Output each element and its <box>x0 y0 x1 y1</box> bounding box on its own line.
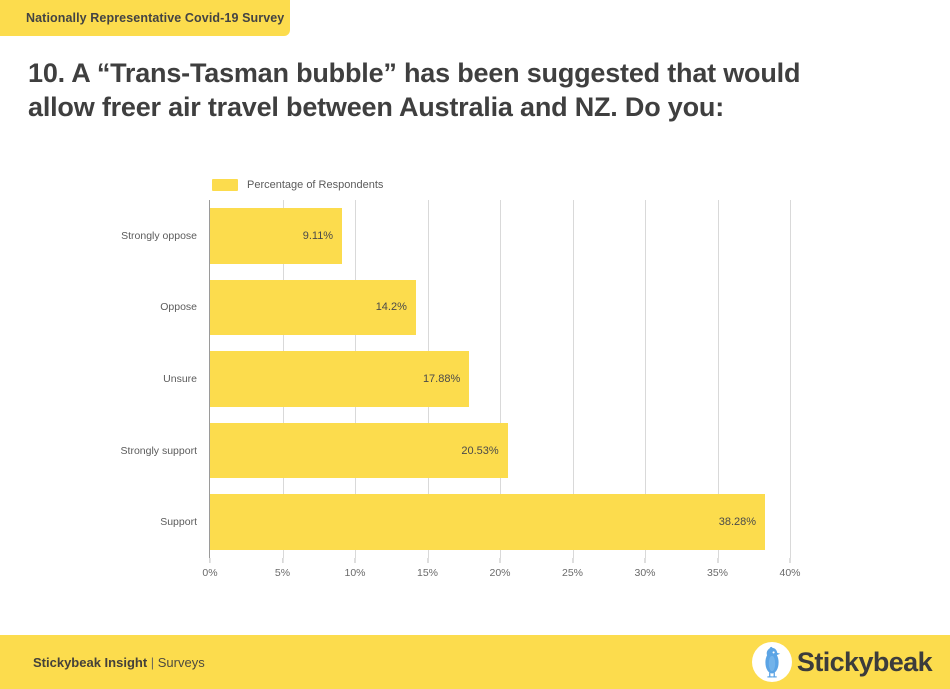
bar[interactable]: 20.53% <box>210 423 508 478</box>
x-axis-tick: 15% <box>417 558 438 579</box>
x-axis-tick-label: 25% <box>562 567 583 579</box>
bar-category-label: Unsure <box>163 373 197 385</box>
stickybeak-logo: Stickybeak <box>752 642 932 682</box>
logo-wordmark: Stickybeak <box>797 647 932 678</box>
bar-value-label: 14.2% <box>376 301 416 313</box>
bird-icon <box>752 642 792 682</box>
legend-label: Percentage of Respondents <box>247 179 383 191</box>
x-axis-tick-mark <box>572 558 573 563</box>
x-axis-tick-mark <box>427 558 428 563</box>
survey-banner-tag: Nationally Representative Covid-19 Surve… <box>0 0 290 36</box>
x-axis-tick-mark <box>644 558 645 563</box>
bar-row[interactable]: Support38.28% <box>210 494 790 549</box>
x-axis-tick: 0% <box>202 558 217 579</box>
chart-plot-area: Strongly oppose9.11%Oppose14.2%Unsure17.… <box>210 200 790 558</box>
x-axis-tick: 20% <box>489 558 510 579</box>
x-axis-tick: 35% <box>707 558 728 579</box>
x-axis-tick-label: 5% <box>275 567 290 579</box>
x-axis-tick-label: 20% <box>489 567 510 579</box>
x-axis-tick: 10% <box>344 558 365 579</box>
question-heading: 10. A “Trans-Tasman bubble” has been sug… <box>28 56 858 124</box>
bar[interactable]: 14.2% <box>210 280 416 335</box>
bar-category-label: Strongly support <box>121 445 197 457</box>
x-axis-tick-label: 0% <box>202 567 217 579</box>
x-axis-tick-label: 40% <box>779 567 800 579</box>
page-footer: Stickybeak Insight | Surveys <box>0 635 950 689</box>
bar-value-label: 9.11% <box>303 230 342 242</box>
footer-section: Surveys <box>158 655 205 670</box>
x-axis-tick-label: 15% <box>417 567 438 579</box>
chart-legend: Percentage of Respondents <box>212 179 383 191</box>
survey-results-chart: Percentage of Respondents Strongly oppos… <box>0 160 950 580</box>
bar-value-label: 20.53% <box>461 445 507 457</box>
x-axis-tick-label: 35% <box>707 567 728 579</box>
bar-row[interactable]: Strongly oppose9.11% <box>210 208 790 263</box>
bar-category-label: Strongly oppose <box>121 230 197 242</box>
bar[interactable]: 38.28% <box>210 494 765 549</box>
footer-brand: Stickybeak Insight <box>33 655 147 670</box>
bar[interactable]: 17.88% <box>210 351 469 406</box>
bar-row[interactable]: Strongly support20.53% <box>210 423 790 478</box>
bar-category-label: Oppose <box>160 301 197 313</box>
x-axis-tick: 5% <box>275 558 290 579</box>
x-axis-tick: 30% <box>634 558 655 579</box>
bar-row[interactable]: Unsure17.88% <box>210 351 790 406</box>
bar-category-label: Support <box>160 516 197 528</box>
bar[interactable]: 9.11% <box>210 208 342 263</box>
bar-value-label: 17.88% <box>423 373 469 385</box>
gridline <box>790 200 791 558</box>
bar-value-label: 38.28% <box>719 516 765 528</box>
x-axis-tick-mark <box>282 558 283 563</box>
bar-row[interactable]: Oppose14.2% <box>210 280 790 335</box>
legend-color-swatch <box>212 179 238 191</box>
x-axis-tick-label: 30% <box>634 567 655 579</box>
footer-caption: Stickybeak Insight | Surveys <box>33 655 205 670</box>
x-axis-tick-mark <box>499 558 500 563</box>
x-axis-tick: 40% <box>779 558 800 579</box>
x-axis-tick-label: 10% <box>344 567 365 579</box>
x-axis-ticks: 0%5%10%15%20%25%30%35%40% <box>210 558 790 582</box>
x-axis-tick-mark <box>354 558 355 563</box>
x-axis-tick: 25% <box>562 558 583 579</box>
chart-bars: Strongly oppose9.11%Oppose14.2%Unsure17.… <box>210 200 790 558</box>
footer-separator: | <box>147 655 158 670</box>
x-axis-tick-mark <box>717 558 718 563</box>
x-axis-tick-mark <box>789 558 790 563</box>
survey-banner-label: Nationally Representative Covid-19 Surve… <box>26 11 284 25</box>
x-axis-tick-mark <box>210 558 211 563</box>
